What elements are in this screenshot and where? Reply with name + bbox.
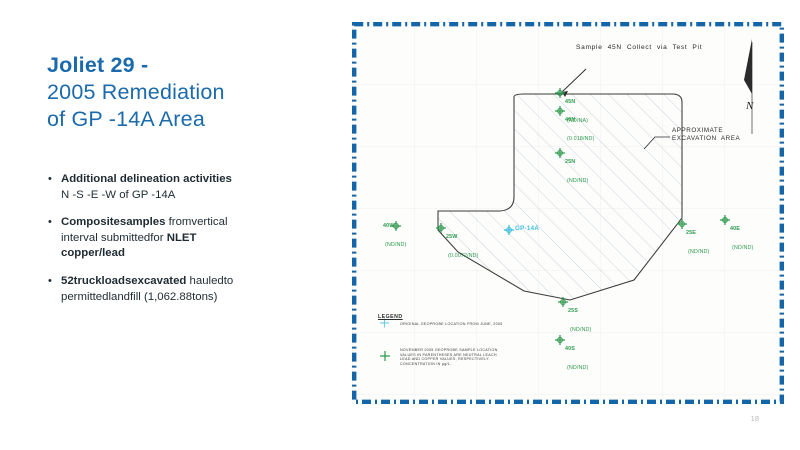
sample-name: 40E	[730, 226, 753, 232]
page-title: Joliet 29 - 2005 Remediation of GP -14A …	[47, 52, 322, 133]
sample-name: 25N	[565, 159, 588, 165]
sample-label-40s: 40S (ND/ND)	[565, 333, 588, 384]
excavation-area-label-line1: APPROXIMATE	[672, 127, 723, 135]
bullet-marker-icon: •	[48, 274, 52, 290]
bullet-marker-icon: •	[48, 172, 52, 188]
list-item-line: Additional delineation activities	[61, 172, 332, 188]
list-item-text: Compositesamples	[61, 216, 165, 228]
list-item-line: Compositesamples fromvertical	[61, 215, 332, 231]
sample-name: 40S	[565, 346, 588, 352]
page-title-line-1: Joliet 29 -	[47, 52, 322, 79]
list-item-line: 52truckloadsexcavated hauledto	[61, 274, 332, 290]
sample-value: (ND/ND)	[565, 178, 588, 184]
list-item-text: fromvertical	[165, 216, 227, 228]
list-item-line: N -S -E -W of GP -14A	[61, 188, 332, 204]
list-item-text: permittedlandfill (1,062.88tons)	[61, 291, 217, 303]
sample-name: 40W	[383, 223, 406, 229]
sample-name: 25S	[568, 308, 591, 314]
sample-value: (ND/ND)	[686, 249, 709, 255]
list-item-text: N -S -E -W of GP -14A	[61, 189, 175, 201]
list-item: • Compositesamples fromvertical interval…	[47, 215, 332, 262]
sample-value: (ND/ND)	[565, 365, 588, 371]
excavation-area-label-line2: EXCAVATION AREA	[672, 135, 740, 143]
sample-name: 40N	[565, 117, 594, 123]
list-item-line: permittedlandfill (1,062.88tons)	[61, 290, 332, 306]
north-label: N	[746, 100, 753, 112]
list-item-text: NLET	[167, 232, 197, 244]
gp14a-label: GP-14A	[515, 225, 539, 232]
sample-value: (0.0072/ND)	[446, 253, 478, 259]
legend-entry-original: ORIGINAL GEOPROBE LOCATION FROM JUNE, 20…	[400, 322, 503, 327]
list-item-text: hauledto	[186, 275, 233, 287]
list-item-line: copper/lead	[61, 246, 332, 262]
legend-entry-november: NOVEMBER 2005 GEOPROBE SAMPLE LOCATION V…	[400, 348, 498, 366]
sample-callout-label: Sample 45N Collect via Test Pit	[576, 44, 702, 51]
sample-value: (0.018/ND)	[565, 136, 594, 142]
sample-label-25w: 25W (0.0072/ND)	[446, 221, 478, 272]
page-title-line-2: 2005 Remediation	[47, 79, 322, 106]
slide-canvas: Joliet 29 - 2005 Remediation of GP -14A …	[0, 0, 800, 450]
list-item: • 52truckloadsexcavated hauledto permitt…	[47, 274, 332, 305]
page-title-line-3: of GP -14A Area	[47, 106, 322, 133]
bullet-list: • Additional delineation activities N -S…	[47, 172, 332, 317]
sample-label-25n: 25N (ND/ND)	[565, 146, 588, 197]
sample-value: (ND/ND)	[383, 242, 406, 248]
sample-label-40w: 40W (ND/ND)	[383, 210, 406, 261]
sample-name: 25W	[446, 234, 478, 240]
list-item-text: 52truckloadsexcavated	[61, 275, 186, 287]
legend-title: LEGEND	[378, 314, 403, 320]
list-item: • Additional delineation activities N -S…	[47, 172, 332, 203]
list-item-text: copper/lead	[61, 247, 125, 259]
sample-name: 25E	[686, 230, 709, 236]
list-item-text: interval submittedfor	[61, 232, 167, 244]
excavation-map-figure: Sample 45N Collect via Test Pit APPROXIM…	[352, 22, 784, 404]
list-item-text: Additional delineation activities	[61, 173, 232, 185]
sample-label-25e: 25E (ND/ND)	[686, 217, 709, 268]
list-item-line: interval submittedfor NLET	[61, 231, 332, 247]
sample-label-40e: 40E (ND/ND)	[730, 213, 753, 264]
bullet-marker-icon: •	[48, 215, 52, 231]
sample-value: (ND/ND)	[730, 245, 753, 251]
page-number: 18	[751, 414, 759, 423]
